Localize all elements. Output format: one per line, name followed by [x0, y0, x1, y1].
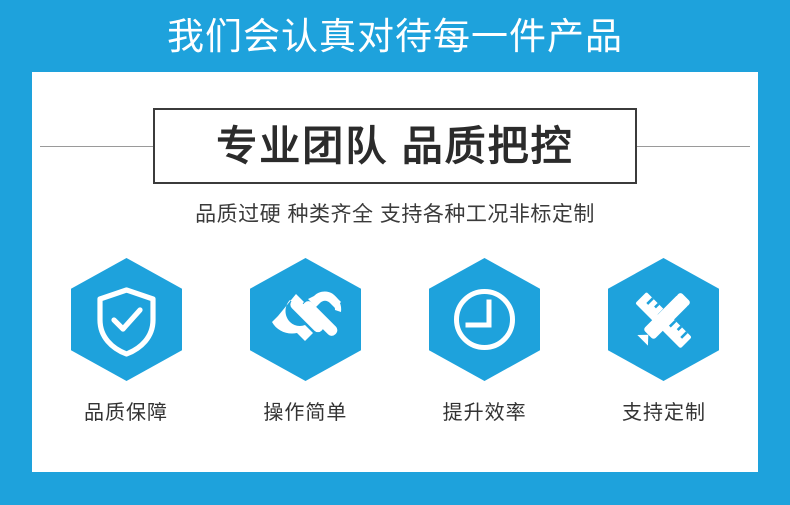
feature-label: 品质保障 — [84, 403, 168, 423]
main-title: 专业团队 品质把控 — [216, 126, 573, 167]
banner-header: 我们会认真对待每一件产品 — [0, 0, 790, 72]
feature-label: 提升效率 — [443, 403, 527, 423]
subtitle: 品质过硬 种类齐全 支持各种工况非标定制 — [32, 198, 758, 228]
feature-item-customization: 支持定制 — [582, 258, 746, 423]
pencil-ruler-icon — [608, 258, 719, 381]
feature-label: 操作简单 — [263, 403, 347, 423]
rule-right — [620, 146, 750, 147]
header-title: 我们会认真对待每一件产品 — [167, 18, 623, 55]
hexagon-badge — [71, 258, 182, 381]
feature-label: 支持定制 — [622, 403, 706, 423]
promo-banner: 我们会认真对待每一件产品 专业团队 品质把控 品质过硬 种类齐全 支持各种工况非… — [0, 0, 790, 505]
rule-left — [40, 146, 170, 147]
hexagon-badge — [608, 258, 719, 381]
shield-check-icon — [71, 258, 182, 381]
feature-item-quality: 品质保障 — [44, 258, 208, 423]
hexagon-badge — [429, 258, 540, 381]
content-panel: 专业团队 品质把控 品质过硬 种类齐全 支持各种工况非标定制 品质保障 — [32, 72, 758, 472]
feature-list: 品质保障 — [32, 258, 758, 423]
feature-item-easy-operation: 操作简单 — [223, 258, 387, 423]
title-box: 专业团队 品质把控 — [153, 108, 637, 184]
wrench-hammer-icon — [250, 258, 361, 381]
hexagon-badge — [250, 258, 361, 381]
clock-icon — [429, 258, 540, 381]
title-block: 专业团队 品质把控 — [32, 108, 758, 184]
feature-item-efficiency: 提升效率 — [403, 258, 567, 423]
